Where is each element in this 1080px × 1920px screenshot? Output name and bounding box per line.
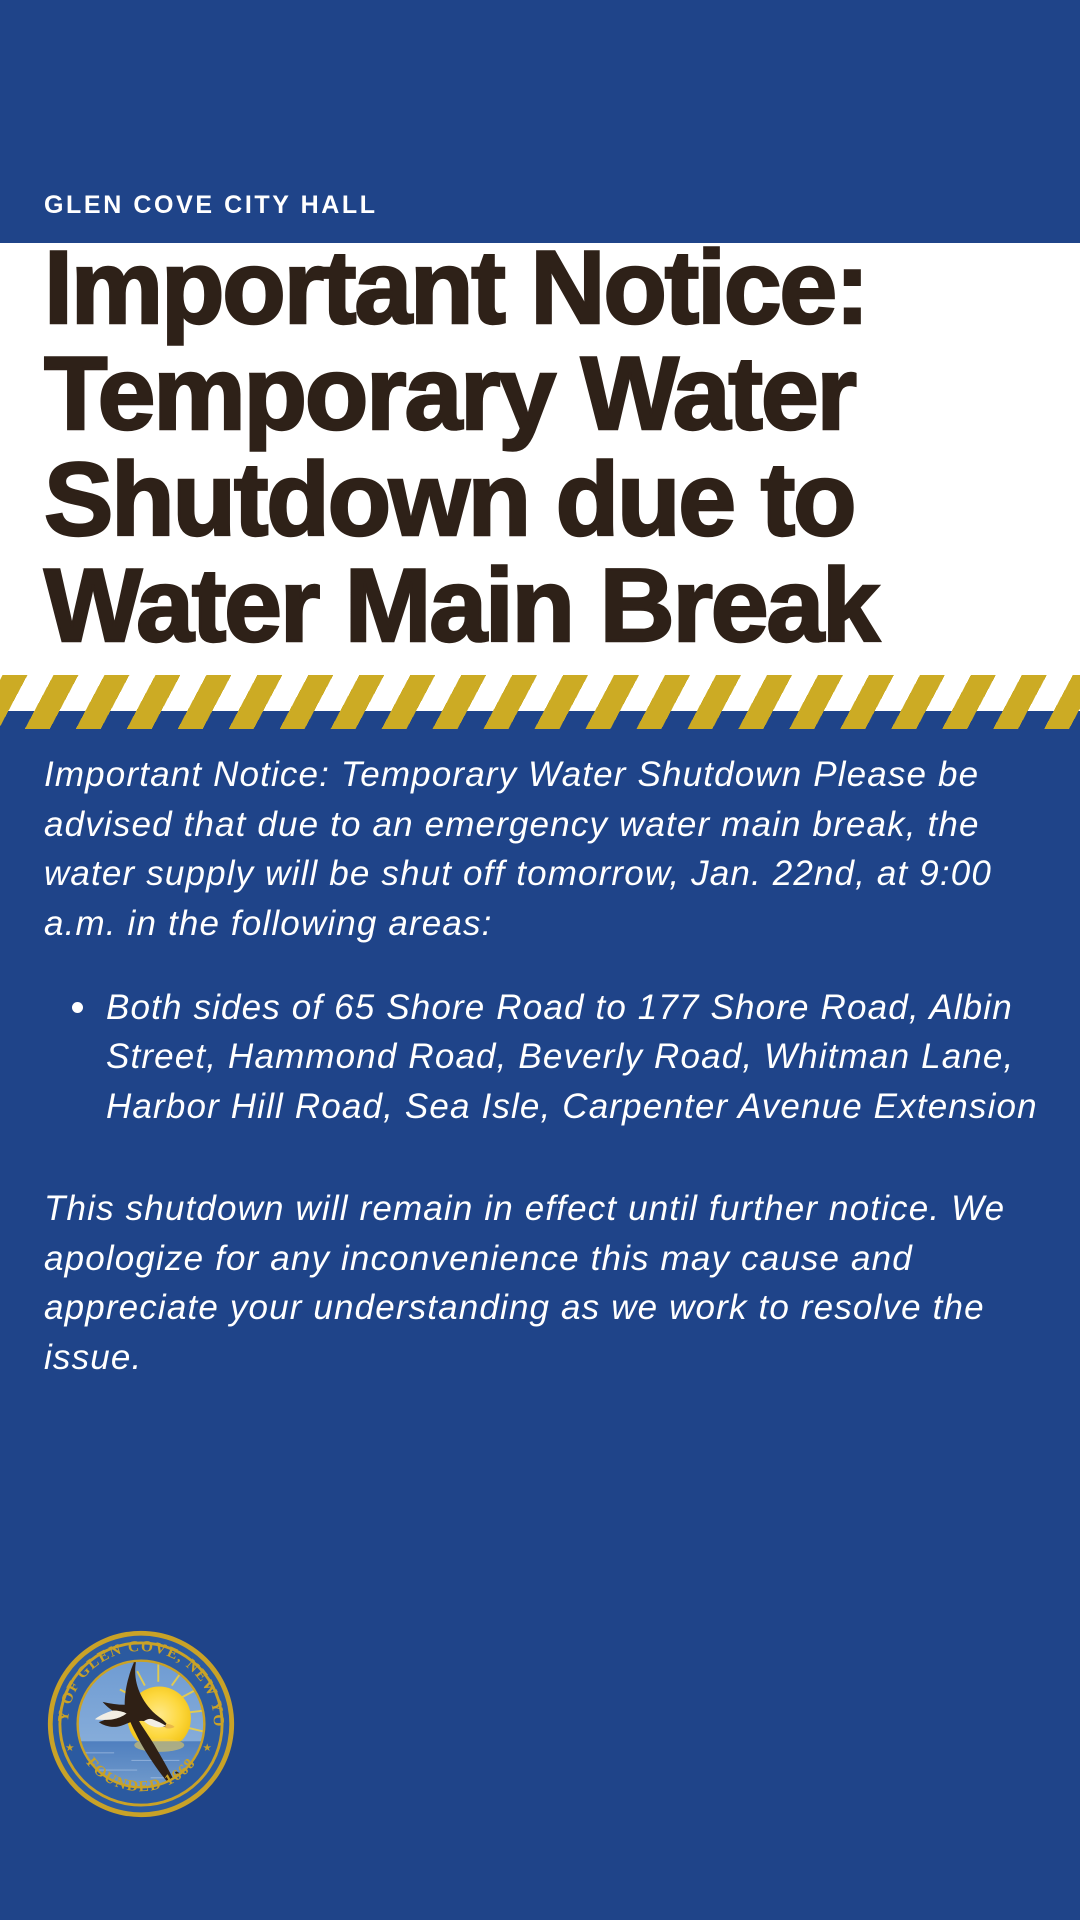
closing-paragraph: This shutdown will remain in effect unti… <box>44 1184 1039 1383</box>
page-title: Important Notice: Temporary Water Shutdo… <box>44 235 1044 659</box>
seal-star-left-icon: ★ <box>65 1742 75 1754</box>
notice-body: Important Notice: Temporary Water Shutdo… <box>44 750 1039 1383</box>
bullet-icon <box>72 1002 83 1013</box>
seal-star-right-icon: ★ <box>203 1742 213 1754</box>
caution-stripe-divider <box>0 675 1080 729</box>
notice-poster: GLEN COVE CITY HALL Important Notice: Te… <box>0 0 1080 1920</box>
list-item: Both sides of 65 Shore Road to 177 Shore… <box>106 983 1039 1132</box>
affected-area-text: Both sides of 65 Shore Road to 177 Shore… <box>106 988 1038 1126</box>
organization-name: GLEN COVE CITY HALL <box>44 190 378 220</box>
intro-paragraph: Important Notice: Temporary Water Shutdo… <box>44 750 1039 949</box>
header-band: GLEN COVE CITY HALL <box>0 0 1080 243</box>
city-seal: CITY OF GLEN COVE, NEW YORK FOUNDED 1668… <box>45 1628 237 1820</box>
affected-areas-list: Both sides of 65 Shore Road to 177 Shore… <box>44 983 1039 1132</box>
diagonal-stripes <box>0 675 1080 729</box>
title-panel: Important Notice: Temporary Water Shutdo… <box>0 243 1080 679</box>
